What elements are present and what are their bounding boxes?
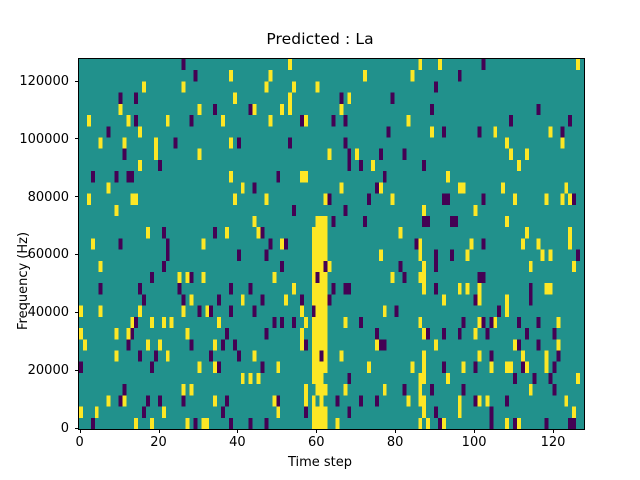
- figure-canvas: Predicted : La 0 20000 40000 60000 80000…: [0, 0, 640, 480]
- xtick-label-100: 100: [444, 435, 504, 450]
- ytick-label-100000: 100000: [0, 132, 69, 147]
- ytick-label-20000: 20000: [0, 363, 69, 378]
- ytick-label-120000: 120000: [0, 74, 69, 89]
- ytick-mark-120000: [75, 81, 79, 82]
- chart-title: Predicted : La: [0, 30, 640, 48]
- ytick-mark-40000: [75, 312, 79, 313]
- xtick-mark-40: [237, 429, 238, 433]
- xtick-mark-60: [316, 429, 317, 433]
- xtick-label-20: 20: [129, 435, 189, 450]
- heatmap-grid: [79, 59, 584, 429]
- ytick-label-40000: 40000: [0, 305, 69, 320]
- heatmap-plot-area[interactable]: [78, 58, 585, 430]
- x-axis-label: Time step: [0, 455, 640, 470]
- ytick-mark-80000: [75, 196, 79, 197]
- xtick-label-0: 0: [50, 435, 110, 450]
- y-axis-label: Frequency (Hz): [16, 232, 31, 330]
- xtick-mark-120: [553, 429, 554, 433]
- xtick-label-80: 80: [365, 435, 425, 450]
- ytick-label-0: 0: [0, 421, 69, 436]
- xtick-label-40: 40: [207, 435, 267, 450]
- ytick-mark-100000: [75, 138, 79, 139]
- ytick-mark-0: [75, 428, 79, 429]
- ytick-mark-20000: [75, 370, 79, 371]
- xtick-mark-0: [80, 429, 81, 433]
- xtick-mark-80: [395, 429, 396, 433]
- xtick-label-60: 60: [286, 435, 346, 450]
- ytick-mark-60000: [75, 254, 79, 255]
- xtick-mark-100: [474, 429, 475, 433]
- xtick-mark-20: [159, 429, 160, 433]
- ytick-label-80000: 80000: [0, 190, 69, 205]
- heatmap-canvas: [79, 59, 584, 429]
- ytick-label-60000: 60000: [0, 247, 69, 262]
- xtick-label-120: 120: [523, 435, 583, 450]
